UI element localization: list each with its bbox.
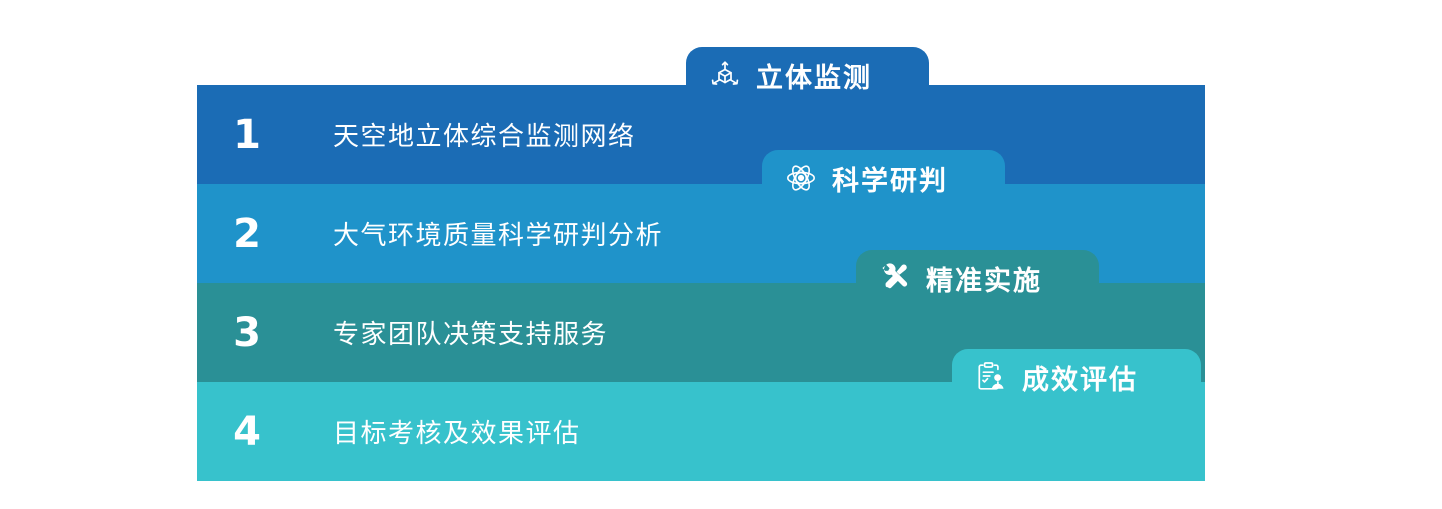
tools-wrench-screwdriver-icon [878,261,912,295]
step-number-4: 4 [197,412,297,452]
step-badge-1[interactable]: 立体监测 [686,47,929,103]
diagram-canvas: 1 天空地立体综合监测网络 2 大气环境质量科学研判分析 3 专家团队决策支持服… [0,0,1442,509]
step-badge-label-2: 科学研判 [832,159,948,198]
step-label-2: 大气环境质量科学研判分析 [333,215,663,252]
step-badge-4[interactable]: 成效评估 [952,349,1201,405]
step-badge-label-1: 立体监测 [756,56,872,95]
clipboard-person-icon [974,360,1008,394]
step-badge-label-4: 成效评估 [1022,358,1138,397]
cube-sensor-icon [708,58,742,92]
atom-icon [784,161,818,195]
step-number-2: 2 [197,214,297,254]
step-label-4: 目标考核及效果评估 [333,413,581,450]
step-number-3: 3 [197,313,297,353]
step-badge-2[interactable]: 科学研判 [762,150,1005,206]
step-badge-label-3: 精准实施 [926,259,1042,298]
step-label-1: 天空地立体综合监测网络 [333,116,636,153]
step-label-3: 专家团队决策支持服务 [333,314,608,351]
step-badge-3[interactable]: 精准实施 [856,250,1099,306]
step-number-1: 1 [197,115,297,155]
